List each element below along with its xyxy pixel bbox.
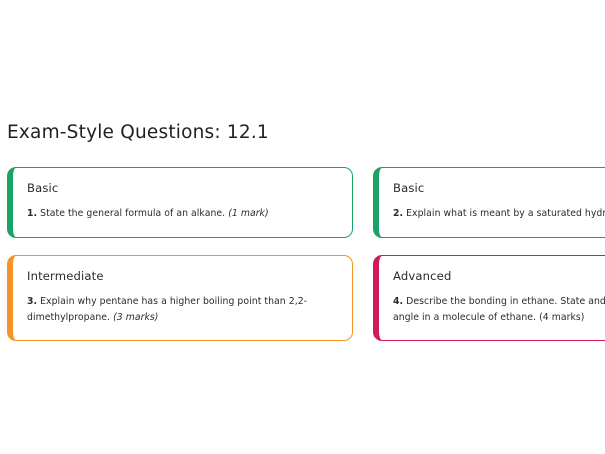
question-number: 3. — [27, 296, 37, 307]
question-prompt: Explain what is meant by a saturated hyd… — [406, 208, 605, 219]
question-card[interactable]: Intermediate 3. Explain why pentane has … — [7, 255, 353, 341]
question-number: 2. — [393, 208, 403, 219]
question-prompt: State the general formula of an alkane. — [40, 208, 225, 219]
question-number: 1. — [27, 208, 37, 219]
question-level-label: Basic — [393, 181, 605, 195]
question-marks: (1 mark) — [228, 208, 268, 219]
question-marks: (4 marks) — [539, 312, 584, 323]
question-text: 3. Explain why pentane has a higher boil… — [27, 294, 338, 326]
question-text: 4. Describe the bonding in ethane. State… — [393, 294, 605, 326]
question-text: 1. State the general formula of an alkan… — [27, 206, 338, 222]
question-text: 2. Explain what is meant by a saturated … — [393, 206, 605, 222]
worksheet-page: Exam-Style Questions: 12.1 Basic 1. Stat… — [0, 0, 605, 454]
question-card[interactable]: Basic 2. Explain what is meant by a satu… — [373, 167, 605, 238]
question-prompt: Explain why pentane has a higher boiling… — [27, 296, 307, 323]
question-card[interactable]: Basic 1. State the general formula of an… — [7, 167, 353, 238]
question-level-label: Intermediate — [27, 269, 338, 283]
question-card-grid: Basic 1. State the general formula of an… — [7, 167, 605, 341]
question-level-label: Basic — [27, 181, 338, 195]
page-title: Exam-Style Questions: 12.1 — [7, 122, 269, 143]
question-level-label: Advanced — [393, 269, 605, 283]
question-marks: (3 marks) — [113, 312, 158, 323]
question-number: 4. — [393, 296, 403, 307]
question-card[interactable]: Advanced 4. Describe the bonding in etha… — [373, 255, 605, 341]
